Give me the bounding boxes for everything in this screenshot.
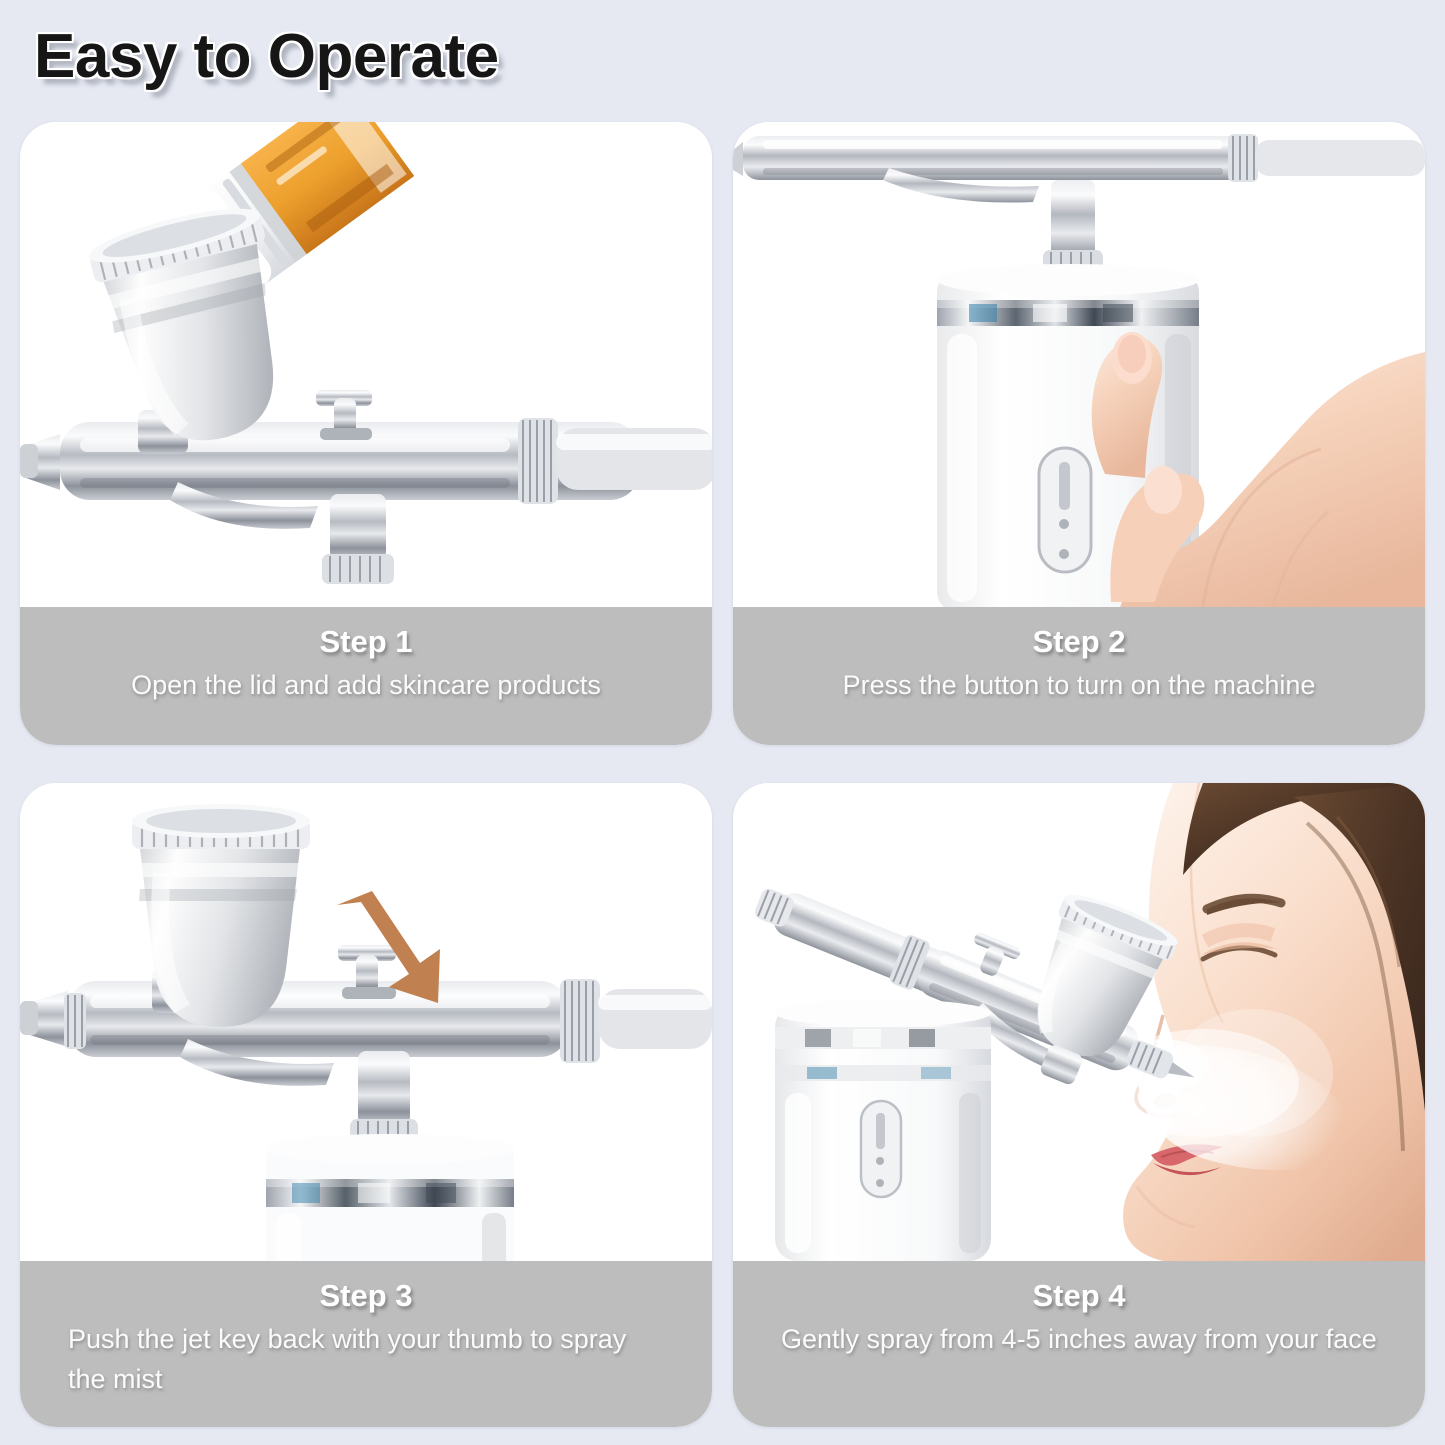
step-card-4: Step 4 Gently spray from 4-5 inches away… xyxy=(733,783,1425,1427)
power-button xyxy=(861,1101,901,1197)
step-card-1: Step 1 Open the lid and add skincare pro… xyxy=(20,122,712,745)
step-3-heading: Step 3 xyxy=(66,1273,666,1319)
step-2-caption: Step 2 Press the button to turn on the m… xyxy=(733,607,1425,745)
step-1-heading: Step 1 xyxy=(66,619,666,665)
step-4-caption: Step 4 Gently spray from 4-5 inches away… xyxy=(733,1261,1425,1427)
device-base xyxy=(775,999,991,1261)
step-4-heading: Step 4 xyxy=(779,1273,1379,1319)
step-3-body: Push the jet key back with your thumb to… xyxy=(66,1319,666,1399)
step-card-3: Step 3 Push the jet key back with your t… xyxy=(20,783,712,1427)
step-card-2: Step 2 Press the button to turn on the m… xyxy=(733,122,1425,745)
step-1-caption: Step 1 Open the lid and add skincare pro… xyxy=(20,607,712,745)
step-2-illustration xyxy=(733,122,1425,607)
hose-connector xyxy=(322,494,394,584)
page-title: Easy to Operate xyxy=(34,14,499,100)
step-1-illustration xyxy=(20,122,712,607)
steps-grid: Step 1 Open the lid and add skincare pro… xyxy=(20,122,1425,1427)
power-button xyxy=(1039,448,1091,572)
step-1-body: Open the lid and add skincare products xyxy=(66,665,666,705)
model-face xyxy=(1123,783,1425,1261)
step-2-body: Press the button to turn on the machine xyxy=(779,665,1379,705)
step-4-body: Gently spray from 4-5 inches away from y… xyxy=(779,1319,1379,1359)
device-base xyxy=(266,1134,514,1261)
step-4-illustration xyxy=(733,783,1425,1261)
step-3-illustration xyxy=(20,783,712,1261)
step-3-caption: Step 3 Push the jet key back with your t… xyxy=(20,1261,712,1427)
step-2-heading: Step 2 xyxy=(779,619,1379,665)
product-instruction-graphic: Easy to Operate xyxy=(0,0,1445,1445)
